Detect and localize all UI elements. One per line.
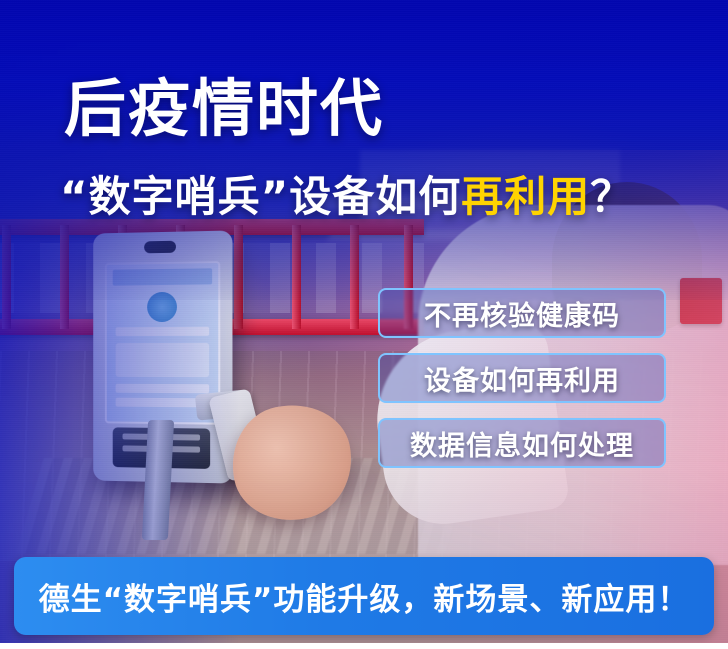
subtitle: “数字哨兵”设备如何再利用？	[60, 176, 633, 218]
bullet-item-3: 数据信息如何处理	[378, 418, 666, 468]
subtitle-prefix: “数字哨兵”设备如何	[60, 172, 461, 221]
bullet-item-2: 设备如何再利用	[378, 353, 666, 403]
bullet-item-1: 不再核验健康码	[378, 288, 666, 338]
poster-image: 后疫情时代 “数字哨兵”设备如何再利用？ 不再核验健康码 设备如何再利用 数据信…	[0, 0, 728, 649]
bottom-banner-text: 德生“数字哨兵”功能升级，新场景、新应用！	[39, 574, 690, 619]
page-title: 后疫情时代	[64, 78, 384, 140]
bullet-list: 不再核验健康码 设备如何再利用 数据信息如何处理	[378, 288, 670, 483]
bottom-banner: 德生“数字哨兵”功能升级，新场景、新应用！	[14, 557, 714, 635]
bottom-white-edge	[0, 643, 728, 649]
subtitle-highlight: 再利用	[461, 172, 590, 221]
subtitle-suffix: ？	[590, 172, 633, 221]
